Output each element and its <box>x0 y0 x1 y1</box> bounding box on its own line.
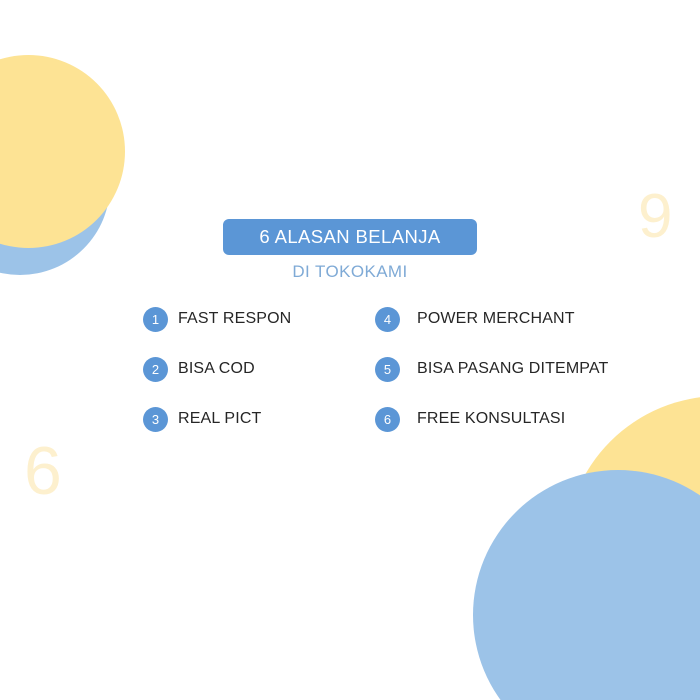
reason-number-badge: 6 <box>375 407 400 432</box>
decorative-circle-bottom-right-blue <box>473 470 700 700</box>
reason-number-badge: 5 <box>375 357 400 382</box>
reason-number-badge: 4 <box>375 307 400 332</box>
reason-item: 3 REAL PICT <box>143 406 373 432</box>
subtitle-text: DI TOKOKAMI <box>0 263 700 282</box>
reason-label: FAST RESPON <box>178 311 291 327</box>
reason-label: BISA PASANG DITEMPAT <box>417 361 608 377</box>
header-block: 6 ALASAN BELANJA DI TOKOKAMI <box>0 219 700 282</box>
reason-label: FREE KONSULTASI <box>417 411 565 427</box>
reason-number-badge: 1 <box>143 307 168 332</box>
title-banner: 6 ALASAN BELANJA <box>223 219 476 255</box>
reason-label: REAL PICT <box>178 411 261 427</box>
reasons-column-right: 4 POWER MERCHANT 5 BISA PASANG DITEMPAT … <box>375 306 643 456</box>
reason-item: 2 BISA COD <box>143 356 373 382</box>
reason-number-badge: 3 <box>143 407 168 432</box>
watermark-numeral-six: 6 <box>24 437 62 505</box>
reason-item: 6 FREE KONSULTASI <box>375 406 643 432</box>
reason-label: POWER MERCHANT <box>417 311 575 327</box>
reason-item: 5 BISA PASANG DITEMPAT <box>375 356 643 382</box>
reason-item: 4 POWER MERCHANT <box>375 306 643 332</box>
reason-number-badge: 2 <box>143 357 168 382</box>
poster-canvas: 9 6 6 ALASAN BELANJA DI TOKOKAMI 1 FAST … <box>0 0 700 700</box>
reason-item: 1 FAST RESPON <box>143 306 373 332</box>
reason-label: BISA COD <box>178 361 255 377</box>
reasons-column-left: 1 FAST RESPON 2 BISA COD 3 REAL PICT <box>143 306 373 456</box>
